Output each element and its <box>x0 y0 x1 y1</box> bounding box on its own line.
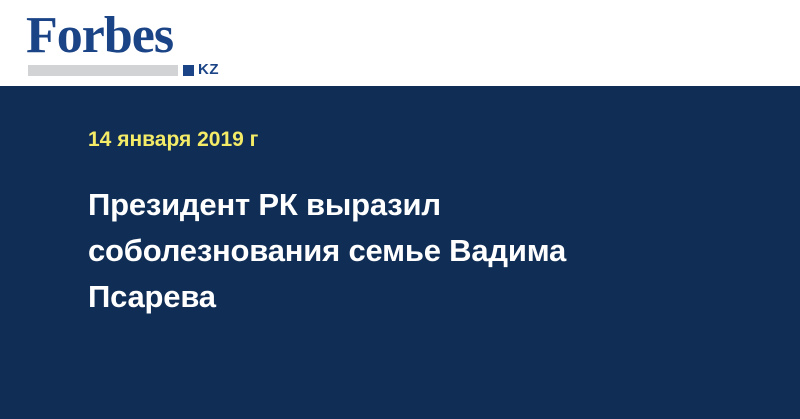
article-hero-background: 14 января 2019 г Президент РК выразил со… <box>0 86 800 419</box>
headline-line-3: Псарева <box>88 274 708 320</box>
article-headline[interactable]: Президент РК выразил соболезнования семь… <box>88 182 708 320</box>
logo-kz-suffix: KZ <box>198 62 219 78</box>
headline-line-2: соболезнования семье Вадима <box>88 228 708 274</box>
forbes-kz-logo[interactable]: Forbes KZ <box>26 8 226 80</box>
forbes-wordmark: Forbes <box>26 8 173 64</box>
headline-line-1: Президент РК выразил <box>88 182 708 228</box>
site-header: Forbes KZ <box>0 0 800 86</box>
article-hero-card: Forbes KZ 14 января 2019 г Президент РК … <box>0 0 800 419</box>
logo-square-icon <box>183 65 194 76</box>
article-date: 14 января 2019 г <box>88 128 258 152</box>
logo-underline-bar <box>28 65 178 76</box>
